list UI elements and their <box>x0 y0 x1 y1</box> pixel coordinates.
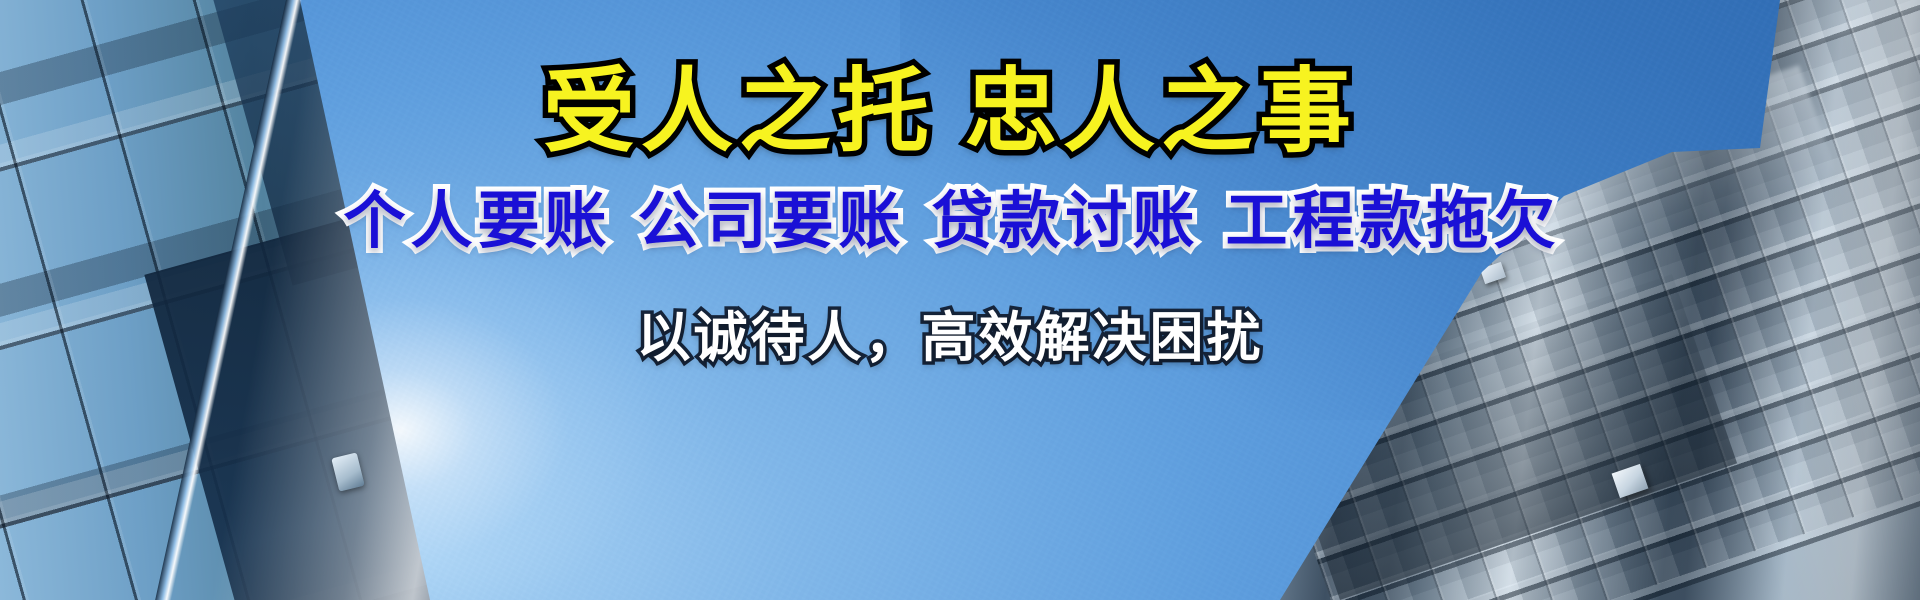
banner-text-layer: 受人之托忠人之事 个人要账公司要账贷款讨账工程款拖欠 以诚待人，高效解决困扰 <box>0 0 1920 600</box>
service-item-4: 工程款拖欠 <box>1226 184 1561 257</box>
banner-services-line: 个人要账公司要账贷款讨账工程款拖欠 <box>343 187 1560 255</box>
banner-tagline: 以诚待人，高效解决困扰 <box>637 308 1264 367</box>
headline-segment-1: 受人之托 <box>543 58 935 165</box>
service-item-2: 公司要账 <box>637 184 905 257</box>
banner-headline: 受人之托忠人之事 <box>543 62 1357 161</box>
service-item-3: 贷款讨账 <box>932 184 1200 257</box>
promo-banner: 受人之托忠人之事 个人要账公司要账贷款讨账工程款拖欠 以诚待人，高效解决困扰 <box>0 0 1920 600</box>
headline-segment-2: 忠人之事 <box>965 58 1357 165</box>
service-item-1: 个人要账 <box>343 184 611 257</box>
